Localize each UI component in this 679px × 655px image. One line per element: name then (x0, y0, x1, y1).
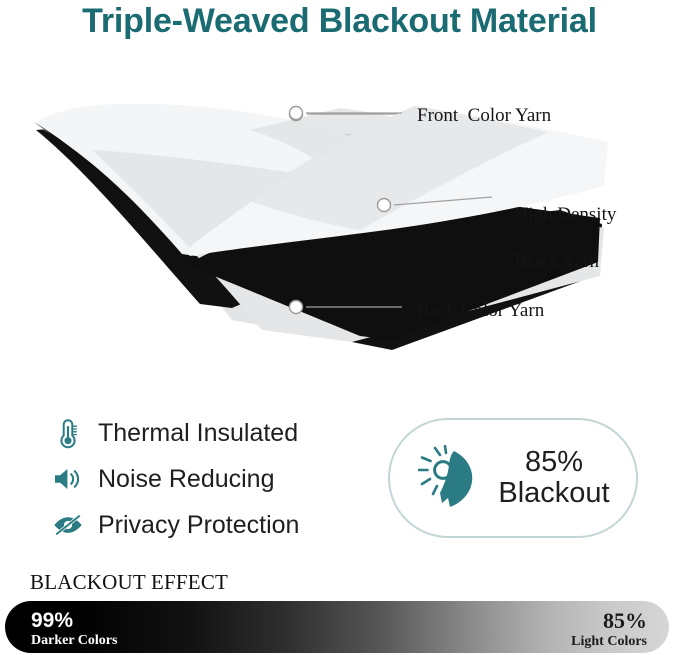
speaker-sound-icon (48, 462, 88, 496)
feature-item-privacy: Privacy Protection (48, 502, 358, 548)
callout-label-black-line2: Black Yarn (515, 251, 599, 272)
circle-marker-front-top (290, 107, 303, 120)
blackout-badge-text: 85% Blackout (498, 447, 609, 510)
bar-right-sublabel: Light Colors (571, 634, 647, 650)
blackout-percentage-badge: 85% Blackout (388, 418, 638, 538)
callout-label-black: High Density Black Yarn (505, 180, 616, 273)
blackout-effect-gradient-bar: 99% Darker Colors 85% Light Colors (5, 601, 669, 653)
bar-right-group: 85% Light Colors (571, 609, 647, 649)
page-title: Triple-Weaved Blackout Material (0, 2, 679, 41)
feature-item-thermal: Thermal Insulated (48, 410, 358, 456)
bar-left-sublabel: Darker Colors (31, 633, 117, 649)
bar-right-percent: 85% (571, 609, 647, 634)
eye-off-icon (48, 508, 88, 542)
feature-label-noise: Noise Reducing (98, 465, 275, 494)
callout-label-front: Front Color Yarn (417, 104, 551, 127)
feature-label-privacy: Privacy Protection (98, 511, 299, 540)
thermometer-icon (48, 416, 88, 450)
blackout-badge-word: Blackout (498, 477, 609, 509)
callout-label-back: Back Color Yarn (417, 299, 544, 322)
sun-behind-curtain-icon (416, 443, 490, 513)
bar-left-group: 99% Darker Colors (31, 609, 117, 648)
feature-item-noise: Noise Reducing (48, 456, 358, 502)
blackout-badge-percent: 85% (525, 446, 583, 478)
bar-left-percent: 99% (31, 609, 117, 633)
circle-marker-black-top (378, 199, 391, 212)
circle-marker-back-top (290, 301, 303, 314)
feature-label-thermal: Thermal Insulated (98, 419, 298, 448)
feature-list: Thermal Insulated Noise Reducing Privacy… (48, 410, 358, 548)
callout-label-black-line1: High Density (515, 204, 617, 225)
blackout-effect-title: BLACKOUT EFFECT (30, 570, 228, 595)
